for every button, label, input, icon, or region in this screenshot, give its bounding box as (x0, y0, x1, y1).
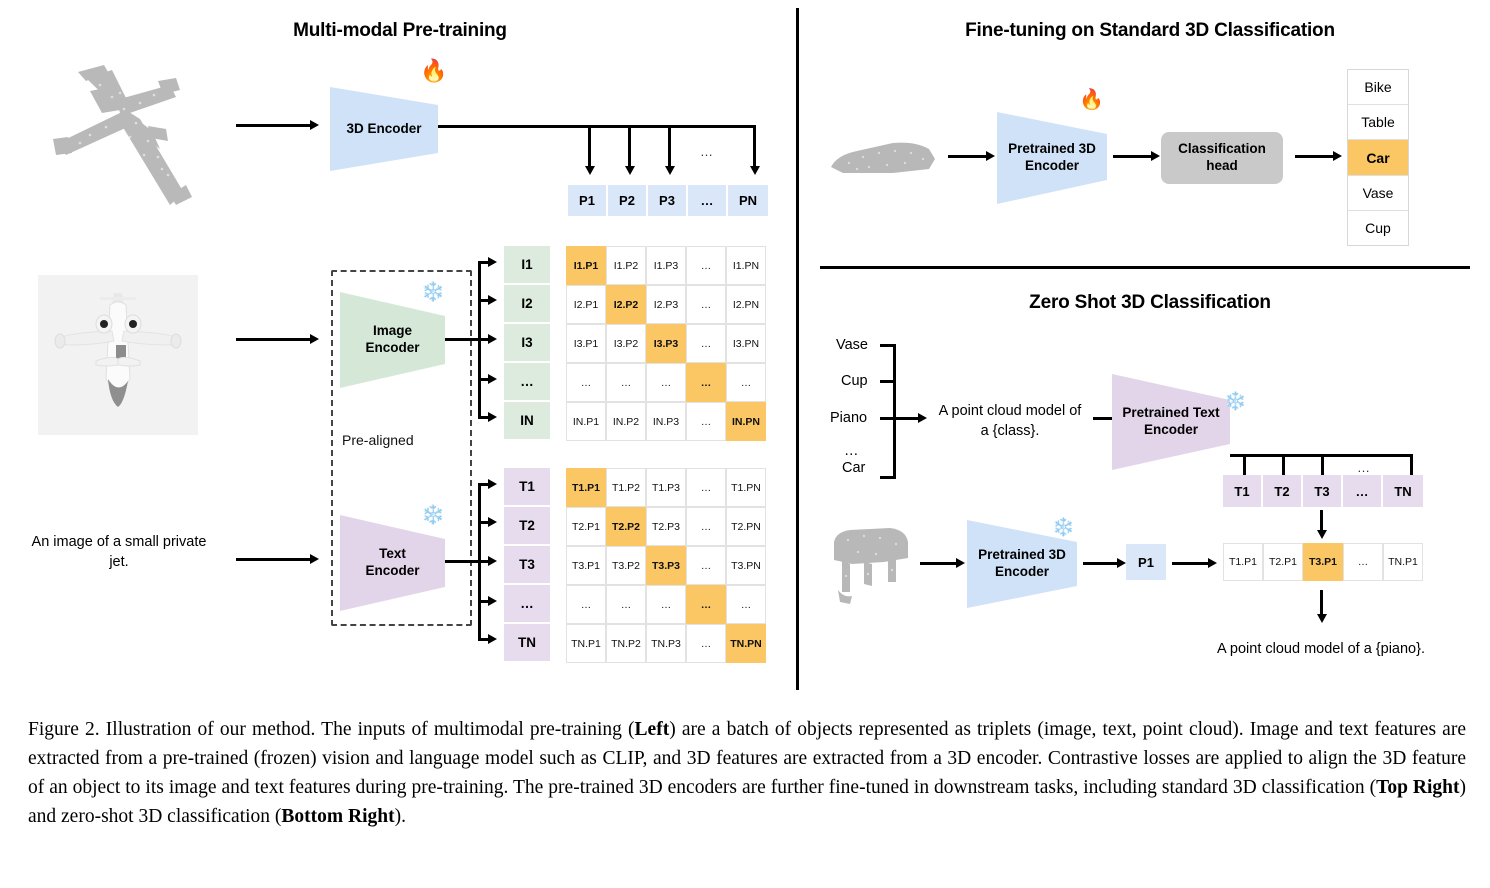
matrix-cell: IN.P1 (566, 402, 606, 441)
matrix-cell: … (686, 285, 726, 324)
text-feature-cell: TN (1383, 475, 1423, 507)
similarity-cell: … (1343, 543, 1383, 581)
bus-ellipsis: … (700, 144, 713, 159)
matrix-cell: T1.P2 (606, 468, 646, 507)
snowflake-icon: ❄️ (421, 506, 445, 525)
zeroshot-result-text: A point cloud model of a {piano}. (1176, 641, 1466, 657)
arrow-head-car-to-encoder (986, 151, 995, 161)
zeroshot-class-ellipsis: … (844, 443, 859, 459)
matrix-cell: T1.PN (726, 468, 766, 507)
matrix-cell: … (726, 585, 766, 624)
matrix-cell: … (686, 324, 726, 363)
arrow-line-classes-to-prompt (896, 417, 918, 420)
text-label-cell: T3 (504, 546, 550, 585)
arrow-head-tfeat-to-simrow (1317, 530, 1327, 539)
arrow-line-img-to-encoder (236, 338, 310, 341)
text-label-column: T1 T2 T3 … TN (504, 468, 550, 663)
bracket-tick-piano (880, 417, 896, 420)
pretrained-text-encoder: Pretrained Text Encoder (1112, 372, 1230, 472)
text-feature-cell: T3 (1303, 475, 1343, 507)
arrow-head-p1-to-simrow (1208, 558, 1217, 568)
text-input-caption: An image of a small private jet. (28, 533, 210, 572)
fanout-line-image (445, 338, 480, 341)
text-feature-cell: T2 (1263, 475, 1303, 507)
point-feature-cell: … (688, 185, 728, 216)
pre-aligned-label: Pre-aligned (342, 432, 414, 448)
arrow-head-i3 (488, 334, 497, 344)
arrow-head-piano-to-encoder (956, 558, 965, 568)
arrow-head-encoder-to-head (1151, 151, 1160, 161)
zeroshot-class-piano: Piano (830, 410, 867, 426)
image-label-cell: … (504, 363, 550, 402)
matrix-cell: I3.P1 (566, 324, 606, 363)
similarity-cell-selected: T3.P1 (1303, 543, 1343, 581)
arrow-line-pc-to-3d-encoder (236, 124, 310, 127)
arrow-line-encoder-to-head (1113, 155, 1151, 158)
figure-illustration: Multi-modal Pre-training Fine-tuning on … (0, 0, 1490, 700)
arrow-head-head-to-classes (1333, 151, 1342, 161)
matrix-cell: IN.P3 (646, 402, 686, 441)
point-feature-cell: P3 (648, 185, 688, 216)
bracket-tick-vase (880, 344, 896, 347)
classification-head: Classification head (1161, 132, 1283, 184)
arrow-line-tfeat-to-simrow (1320, 510, 1323, 532)
matrix-cell: … (686, 507, 726, 546)
matrix-cell: … (606, 363, 646, 402)
horizontal-divider (820, 266, 1470, 269)
text-feature-row-zeroshot: T1 T2 T3 … TN (1223, 475, 1423, 507)
zeroshot-class-vase: Vase (836, 337, 868, 353)
arrow-head-p2 (625, 166, 635, 175)
pretrained-3d-encoder-finetune: Pretrained 3D Encoder (997, 110, 1107, 206)
class-item[interactable]: Cup (1348, 211, 1408, 245)
arrow-line-simrow-to-result (1320, 590, 1323, 616)
matrix-cell: TN.PN (726, 624, 766, 663)
matrix-cell: I1.PN (726, 246, 766, 285)
matrix-cell: … (566, 363, 606, 402)
matrix-cell: … (686, 246, 726, 285)
bracket-tick-cup (880, 380, 896, 383)
text-label-cell: … (504, 585, 550, 624)
bus-drop-p1 (588, 128, 591, 168)
arrow-head-idots (488, 374, 497, 384)
matrix-cell: … (726, 363, 766, 402)
class-item[interactable]: Vase (1348, 176, 1408, 211)
arrow-line-piano-to-encoder (920, 562, 956, 565)
matrix-cell: I2.PN (726, 285, 766, 324)
point-feature-row: P1 P2 P3 … PN (568, 185, 768, 216)
similarity-cell: T2.P1 (1263, 543, 1303, 581)
matrix-cell: TN.P2 (606, 624, 646, 663)
arrow-line-car-to-encoder (948, 155, 986, 158)
image-label-cell: I3 (504, 324, 550, 363)
arrow-head-in (488, 412, 497, 422)
text-label-cell: T1 (504, 468, 550, 507)
matrix-cell: … (566, 585, 606, 624)
text-feature-cell: T1 (1223, 475, 1263, 507)
matrix-cell: T1.P3 (646, 468, 686, 507)
arrow-head-t2 (488, 517, 497, 527)
similarity-row-zeroshot: T1.P1 T2.P1 T3.P1 … TN.P1 (1223, 543, 1423, 581)
matrix-cell: TN.P3 (646, 624, 686, 663)
matrix-cell: … (686, 402, 726, 441)
arrow-head-tdots (488, 596, 497, 606)
matrix-cell: I1.P2 (606, 246, 646, 285)
panel-title-left: Multi-modal Pre-training (160, 20, 640, 42)
figure-caption: Figure 2. Illustration of our method. Th… (28, 716, 1466, 831)
piano-point-cloud (828, 520, 914, 606)
image-encoder: Image Encoder (340, 290, 445, 390)
arrow-line-head-to-classes (1295, 155, 1333, 158)
arrow-head-t3 (488, 556, 497, 566)
point-feature-cell: P2 (608, 185, 648, 216)
text-encoder: Text Encoder (340, 513, 445, 613)
caption-seg-bold: Top Right (1376, 777, 1459, 798)
matrix-cell: … (686, 546, 726, 585)
arrow-line-p1-to-simrow (1172, 562, 1208, 565)
image-label-cell: I2 (504, 285, 550, 324)
arrow-head-i2 (488, 295, 497, 305)
similarity-cell: T1.P1 (1223, 543, 1263, 581)
matrix-cell: I3.PN (726, 324, 766, 363)
matrix-cell: … (646, 363, 686, 402)
fire-icon: 🔥 (1079, 90, 1104, 110)
image-label-cell: I1 (504, 246, 550, 285)
jet-image-thumbnail (38, 275, 198, 435)
text-feature-cell: … (1343, 475, 1383, 507)
text-label-cell: TN (504, 624, 550, 663)
matrix-cell: I1.P1 (566, 246, 606, 285)
matrix-cell: I1.P3 (646, 246, 686, 285)
fanout-line-text (445, 560, 480, 563)
matrix-cell: I2.P3 (646, 285, 686, 324)
car-point-cloud (823, 135, 941, 183)
image-label-column: I1 I2 I3 … IN (504, 246, 550, 441)
matrix-cell: I2.P1 (566, 285, 606, 324)
matrix-cell: … (686, 468, 726, 507)
panel-title-top-right: Fine-tuning on Standard 3D Classificatio… (830, 20, 1470, 42)
class-item[interactable]: Table (1348, 105, 1408, 140)
matrix-cell: T3.P2 (606, 546, 646, 585)
arrow-head-tn (488, 634, 497, 644)
text-label-cell: T2 (504, 507, 550, 546)
matrix-cell: IN.PN (726, 402, 766, 441)
matrix-cell: T3.PN (726, 546, 766, 585)
snowflake-icon: ❄️ (1052, 518, 1074, 536)
matrix-cell: T1.P1 (566, 468, 606, 507)
arrow-head-i1 (488, 257, 497, 267)
matrix-cell: … (686, 363, 726, 402)
fire-icon: 🔥 (420, 60, 447, 82)
arrow-line-encoder-to-p1 (1083, 562, 1117, 565)
caption-seg-bold: Left (635, 719, 670, 740)
arrow-head-pc-to-3d-encoder (310, 120, 319, 130)
prompt-template-text: A point cloud model of a {class}. (925, 402, 1095, 441)
bus-ellipsis-zs: … (1357, 460, 1370, 475)
caption-seg: Figure 2. Illustration of our method. Th… (28, 719, 635, 740)
image-label-cell: IN (504, 402, 550, 441)
matrix-cell: T3.P1 (566, 546, 606, 585)
matrix-cell: … (686, 585, 726, 624)
snowflake-icon: ❄️ (1224, 392, 1246, 410)
matrix-cell: T2.P3 (646, 507, 686, 546)
image-point-similarity-matrix: I1.P1 I1.P2 I1.P3 … I1.PN I2.P1 I2.P2 I2… (566, 246, 766, 441)
class-list-finetune: Bike Table Car Vase Cup (1347, 69, 1409, 246)
matrix-cell: … (646, 585, 686, 624)
bus-line-3d-features (438, 125, 756, 128)
zeroshot-class-cup: Cup (841, 373, 868, 389)
matrix-cell: I3.P3 (646, 324, 686, 363)
airplane-point-cloud (20, 45, 235, 215)
zeroshot-class-car: Car (842, 460, 865, 476)
matrix-cell: I2.P2 (606, 285, 646, 324)
matrix-cell: … (686, 624, 726, 663)
matrix-cell: … (606, 585, 646, 624)
arrow-head-pn (750, 166, 760, 175)
matrix-cell: I3.P2 (606, 324, 646, 363)
bracket-tick-car (880, 476, 896, 479)
encoder-3d: 3D Encoder (330, 83, 438, 175)
matrix-cell: T2.P2 (606, 507, 646, 546)
bus-drop-pn (753, 128, 756, 168)
caption-seg: ). (395, 806, 406, 827)
snowflake-icon: ❄️ (421, 283, 445, 302)
similarity-cell: TN.P1 (1383, 543, 1423, 581)
matrix-cell: T3.P3 (646, 546, 686, 585)
point-feature-cell: PN (728, 185, 768, 216)
point-feature-p1-zeroshot: P1 (1126, 544, 1166, 580)
class-item[interactable]: Bike (1348, 70, 1408, 105)
bracket-spine (893, 344, 896, 479)
arrow-head-img-to-encoder (310, 334, 319, 344)
arrow-head-encoder-to-p1 (1117, 558, 1126, 568)
arrow-head-simrow-to-result (1317, 614, 1327, 623)
panel-title-bottom-right: Zero Shot 3D Classification (830, 292, 1470, 314)
arrow-line-text-to-encoder (236, 558, 310, 561)
arrow-head-t1 (488, 479, 497, 489)
matrix-cell: T2.PN (726, 507, 766, 546)
class-item-selected[interactable]: Car (1348, 140, 1408, 175)
bus-drop-p2 (628, 128, 631, 168)
arrow-head-text-to-encoder (310, 554, 319, 564)
matrix-cell: IN.P2 (606, 402, 646, 441)
point-feature-cell: P1 (568, 185, 608, 216)
arrow-head-p3 (665, 166, 675, 175)
bus-drop-p3 (668, 128, 671, 168)
arrow-head-p1 (585, 166, 595, 175)
vertical-divider (796, 8, 799, 690)
text-point-similarity-matrix: T1.P1 T1.P2 T1.P3 … T1.PN T2.P1 T2.P2 T2… (566, 468, 766, 663)
matrix-cell: T2.P1 (566, 507, 606, 546)
caption-seg-bold: Bottom Right (281, 806, 394, 827)
matrix-cell: TN.P1 (566, 624, 606, 663)
